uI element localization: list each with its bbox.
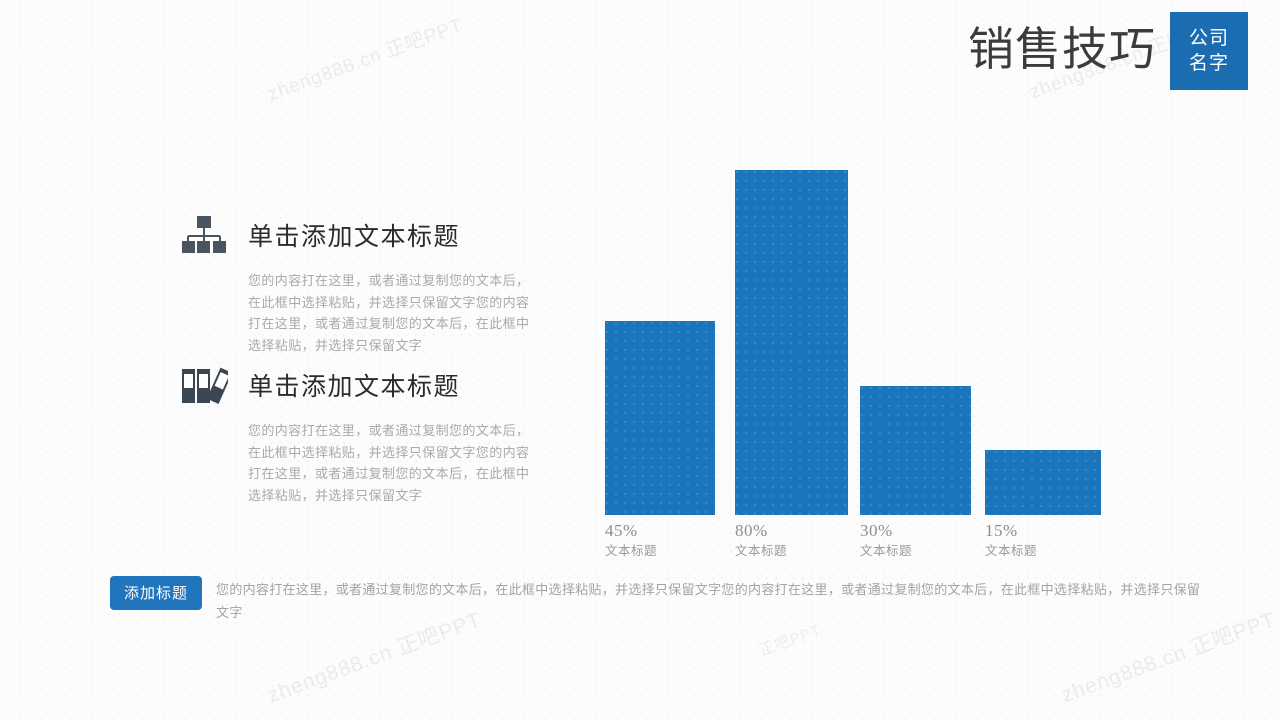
- bar: [985, 450, 1101, 515]
- org-chart-icon: [182, 215, 228, 255]
- bar: [860, 386, 971, 515]
- bar-chart-plot-area: 45%文本标题80%文本标题30%文本标题15%文本标题: [595, 170, 1125, 515]
- bar-chart: 45%文本标题80%文本标题30%文本标题15%文本标题: [595, 150, 1125, 560]
- content-block-1-header: 单击添加文本标题: [182, 212, 552, 258]
- content-block-2-body: 您的内容打在这里，或者通过复制您的文本后，在此框中选择粘贴，并选择只保留文字您的…: [248, 420, 540, 506]
- bar-category-label: 文本标题: [860, 542, 912, 560]
- bar: [605, 321, 715, 515]
- bar-category-label: 文本标题: [735, 542, 787, 560]
- bar-label-group: 30%文本标题: [860, 515, 912, 560]
- watermark: 正吧PPT: [756, 619, 823, 661]
- content-block-2: 单击添加文本标题 您的内容打在这里，或者通过复制您的文本后，在此框中选择粘贴，并…: [182, 362, 552, 506]
- bar-category-label: 文本标题: [605, 542, 657, 560]
- watermark: zheng888.cn 正吧PPT: [263, 10, 466, 106]
- footer-description: 您的内容打在这里，或者通过复制您的文本后，在此框中选择粘贴，并选择只保留文字您的…: [216, 578, 1206, 624]
- page-title: 销售技巧: [968, 26, 1156, 72]
- bar-category-label: 文本标题: [985, 542, 1037, 560]
- bar-label-group: 80%文本标题: [735, 515, 787, 560]
- bar-group: 15%文本标题: [985, 450, 1101, 515]
- company-name-badge: 公司 名字: [1170, 12, 1248, 90]
- bar-value-label: 30%: [860, 521, 912, 540]
- bar-group: 45%文本标题: [605, 321, 715, 515]
- add-title-button[interactable]: 添加标题: [110, 576, 202, 610]
- content-block-1-title: 单击添加文本标题: [248, 217, 460, 253]
- company-badge-line1: 公司: [1189, 26, 1229, 51]
- company-badge-line2: 名字: [1189, 51, 1229, 76]
- books-icon: [182, 365, 228, 405]
- content-block-2-header: 单击添加文本标题: [182, 362, 552, 408]
- bar-label-group: 45%文本标题: [605, 515, 657, 560]
- slide-canvas: zheng888.cn 正吧PPT zheng888.cn 正吧PPT zhen…: [0, 0, 1280, 720]
- bar-value-label: 80%: [735, 521, 787, 540]
- bar-value-label: 45%: [605, 521, 657, 540]
- slide-header: 销售技巧 公司 名字: [968, 0, 1280, 90]
- bar-group: 80%文本标题: [735, 170, 848, 515]
- bar-value-label: 15%: [985, 521, 1037, 540]
- bar: [735, 170, 848, 515]
- content-block-2-title: 单击添加文本标题: [248, 367, 460, 403]
- bar-label-group: 15%文本标题: [985, 515, 1037, 560]
- content-block-1-body: 您的内容打在这里，或者通过复制您的文本后，在此框中选择粘贴，并选择只保留文字您的…: [248, 270, 540, 356]
- bar-group: 30%文本标题: [860, 386, 971, 515]
- slide-footer: 添加标题 您的内容打在这里，或者通过复制您的文本后，在此框中选择粘贴，并选择只保…: [110, 576, 1220, 624]
- content-block-1: 单击添加文本标题 您的内容打在这里，或者通过复制您的文本后，在此框中选择粘贴，并…: [182, 212, 552, 356]
